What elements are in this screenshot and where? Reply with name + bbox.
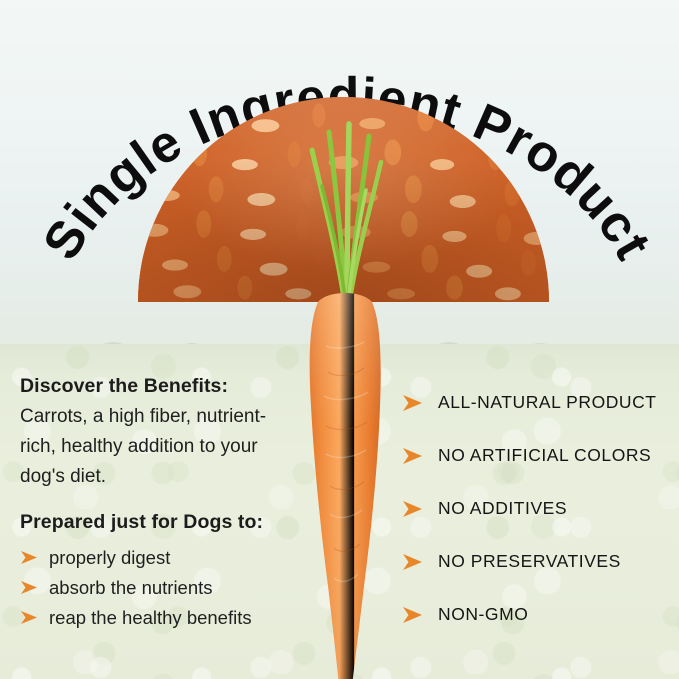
feature-item: NO ADDITIVES <box>402 482 667 535</box>
arrow-right-icon <box>402 447 423 465</box>
benefits-body-line: Carrots, a high fiber, nutrient- <box>20 402 310 432</box>
benefits-body-line: dog's diet. <box>20 462 310 492</box>
product-infographic: Single Ingredient Product <box>0 0 679 679</box>
list-item-label: absorb the nutrients <box>49 579 213 598</box>
feature-item: NON-GMO <box>402 588 667 641</box>
list-item: absorb the nutrients <box>20 573 310 603</box>
arrow-right-icon <box>402 606 423 624</box>
feature-label: NO PRESERVATIVES <box>438 553 621 571</box>
arrow-right-icon <box>20 580 38 595</box>
feature-label: NON-GMO <box>438 606 528 624</box>
feature-label: NO ADDITIVES <box>438 500 567 518</box>
prepared-block: Prepared just for Dogs to: properly dige… <box>20 510 310 632</box>
features-list: ALL-NATURAL PRODUCT NO ARTIFICIAL COLORS… <box>402 376 667 641</box>
list-item: properly digest <box>20 543 310 573</box>
arrow-right-icon <box>20 550 38 565</box>
list-item-label: reap the healthy benefits <box>49 609 252 628</box>
carrot-greens-icon <box>295 110 395 310</box>
benefits-block: Discover the Benefits: Carrots, a high f… <box>20 374 310 633</box>
list-item-label: properly digest <box>49 549 170 568</box>
feature-item: ALL-NATURAL PRODUCT <box>402 376 667 429</box>
prepared-heading: Prepared just for Dogs to: <box>20 510 310 534</box>
benefits-body-line: rich, healthy addition to your <box>20 432 310 462</box>
feature-item: NO PRESERVATIVES <box>402 535 667 588</box>
list-item: reap the healthy benefits <box>20 603 310 633</box>
arrow-right-icon <box>20 610 38 625</box>
benefits-heading: Discover the Benefits: <box>20 374 310 398</box>
arrow-right-icon <box>402 394 423 412</box>
feature-item: NO ARTIFICIAL COLORS <box>402 429 667 482</box>
carrot-root <box>304 286 386 679</box>
benefits-body: Carrots, a high fiber, nutrient- rich, h… <box>20 402 310 492</box>
hero-carrot <box>295 110 395 655</box>
feature-label: ALL-NATURAL PRODUCT <box>438 394 657 412</box>
arrow-right-icon <box>402 500 423 518</box>
feature-label: NO ARTIFICIAL COLORS <box>438 447 651 465</box>
arrow-right-icon <box>402 553 423 571</box>
